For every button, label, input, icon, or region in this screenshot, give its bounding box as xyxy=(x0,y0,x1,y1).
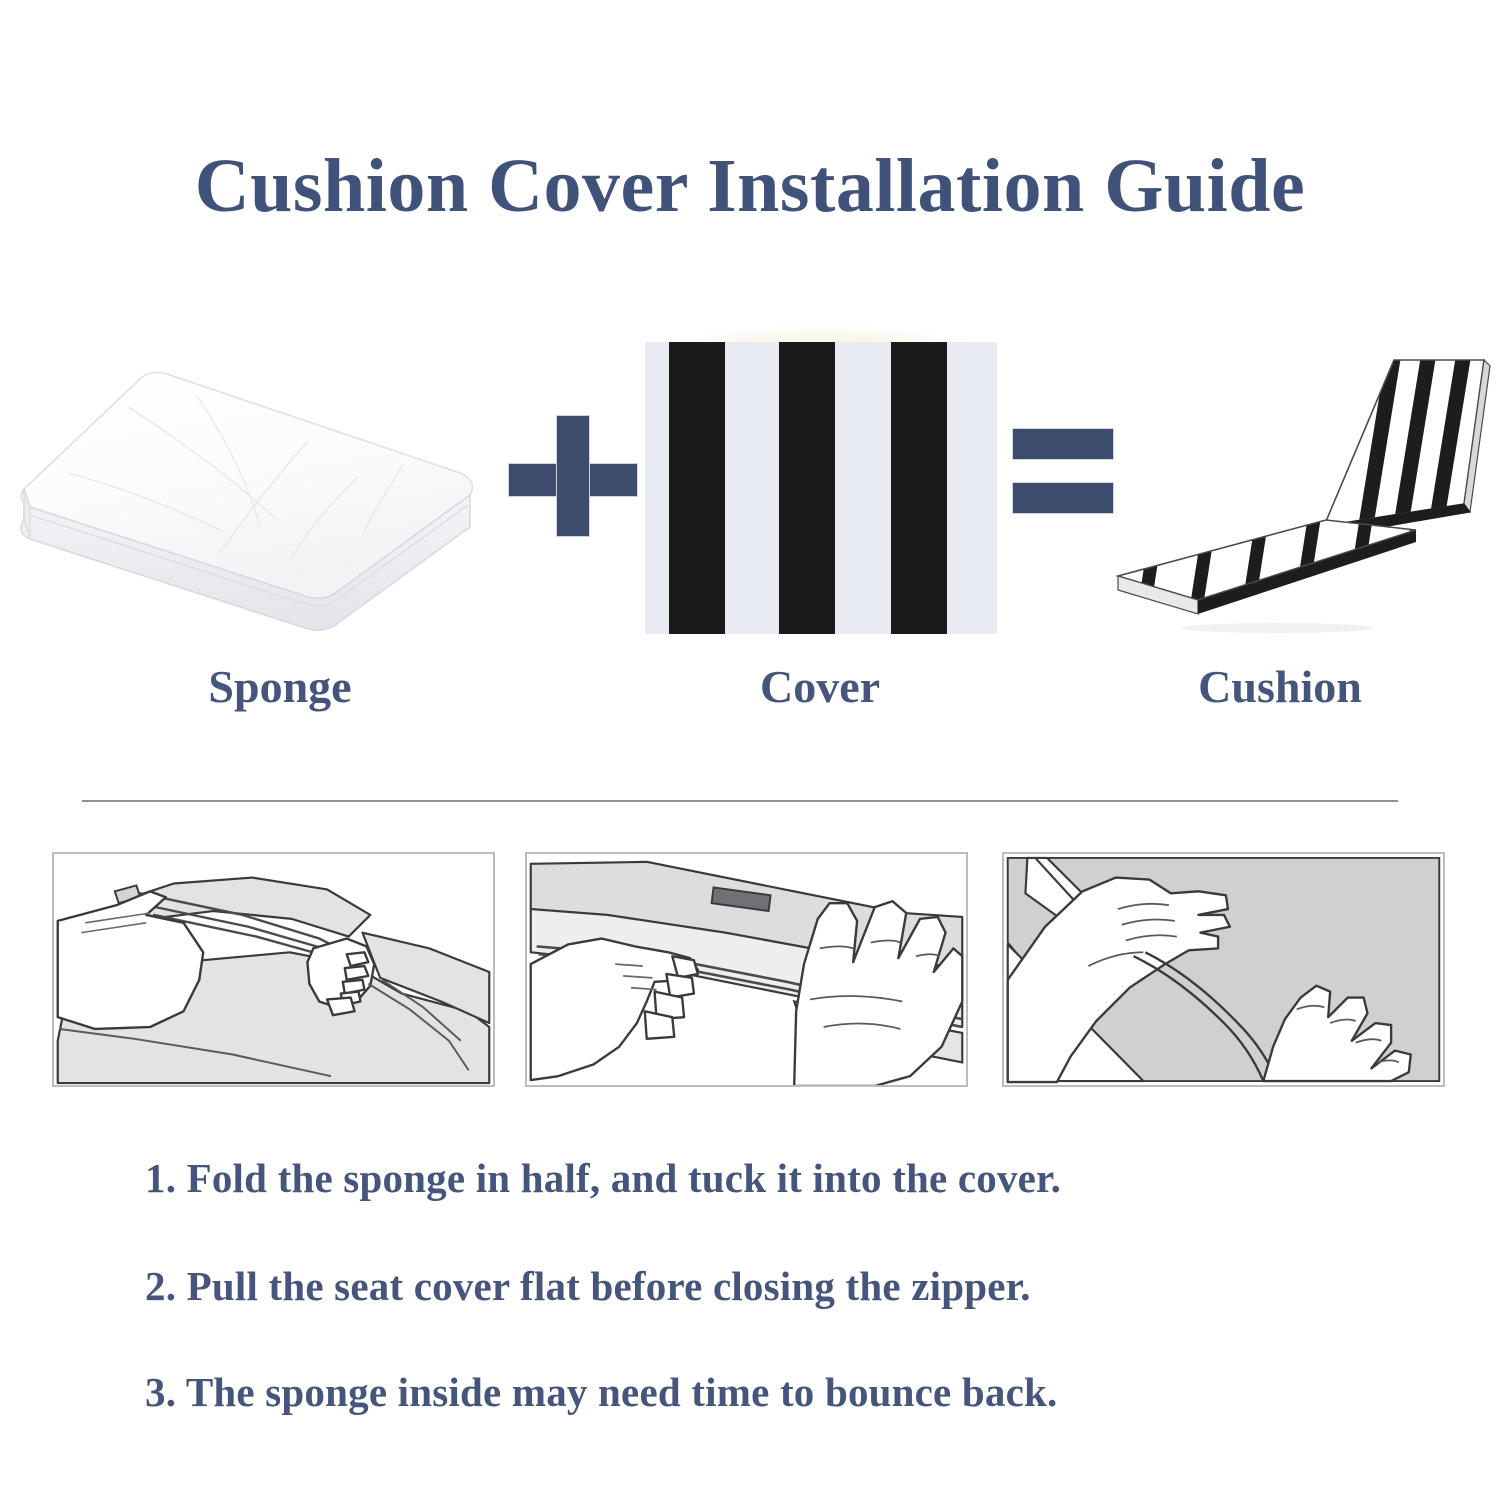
striped-lounger-cushion-icon xyxy=(1098,348,1498,648)
panel-3-smooth-cushion xyxy=(1002,852,1445,1087)
cover-stripe-1 xyxy=(669,342,725,634)
plus-vertical-bar xyxy=(556,415,590,537)
striped-fabric-icon xyxy=(645,342,997,634)
section-divider xyxy=(82,800,1398,802)
instruction-step-1: 1. Fold the sponge in half, and tuck it … xyxy=(145,1154,1061,1202)
cushion-image xyxy=(1098,348,1498,648)
white-foam-pad-icon xyxy=(8,355,498,655)
cover-stripe-2 xyxy=(725,342,779,634)
illustration-panels xyxy=(0,852,1500,1088)
panel-1-tuck-sponge xyxy=(52,852,495,1087)
cover-stripe-4 xyxy=(835,342,891,634)
sponge-image xyxy=(8,355,498,655)
cover-stripe-6 xyxy=(947,342,997,634)
installation-guide-page: Cushion Cover Installation Guide xyxy=(0,0,1500,1500)
equals-symbol xyxy=(1012,428,1112,520)
instruction-step-3: 3. The sponge inside may need time to bo… xyxy=(145,1368,1057,1416)
hands-smoothing-cushion-illustration xyxy=(1004,854,1443,1085)
item-labels: Sponge Cover Cushion xyxy=(0,660,1500,724)
cover-stripe-3 xyxy=(779,342,835,634)
equation-row xyxy=(0,300,1500,720)
hands-closing-zipper-illustration xyxy=(527,854,966,1085)
cover-image xyxy=(645,322,997,634)
label-cushion: Cushion xyxy=(1110,660,1450,713)
label-sponge: Sponge xyxy=(110,660,450,713)
cover-stripe-0 xyxy=(645,342,669,634)
hands-tucking-sponge-into-cover-illustration xyxy=(54,854,493,1085)
panel-2-close-zipper xyxy=(525,852,968,1087)
instruction-step-2: 2. Pull the seat cover flat before closi… xyxy=(145,1262,1031,1310)
plus-symbol xyxy=(508,415,636,535)
cover-stripe-5 xyxy=(891,342,947,634)
page-title: Cushion Cover Installation Guide xyxy=(0,143,1500,230)
label-cover: Cover xyxy=(660,660,980,713)
